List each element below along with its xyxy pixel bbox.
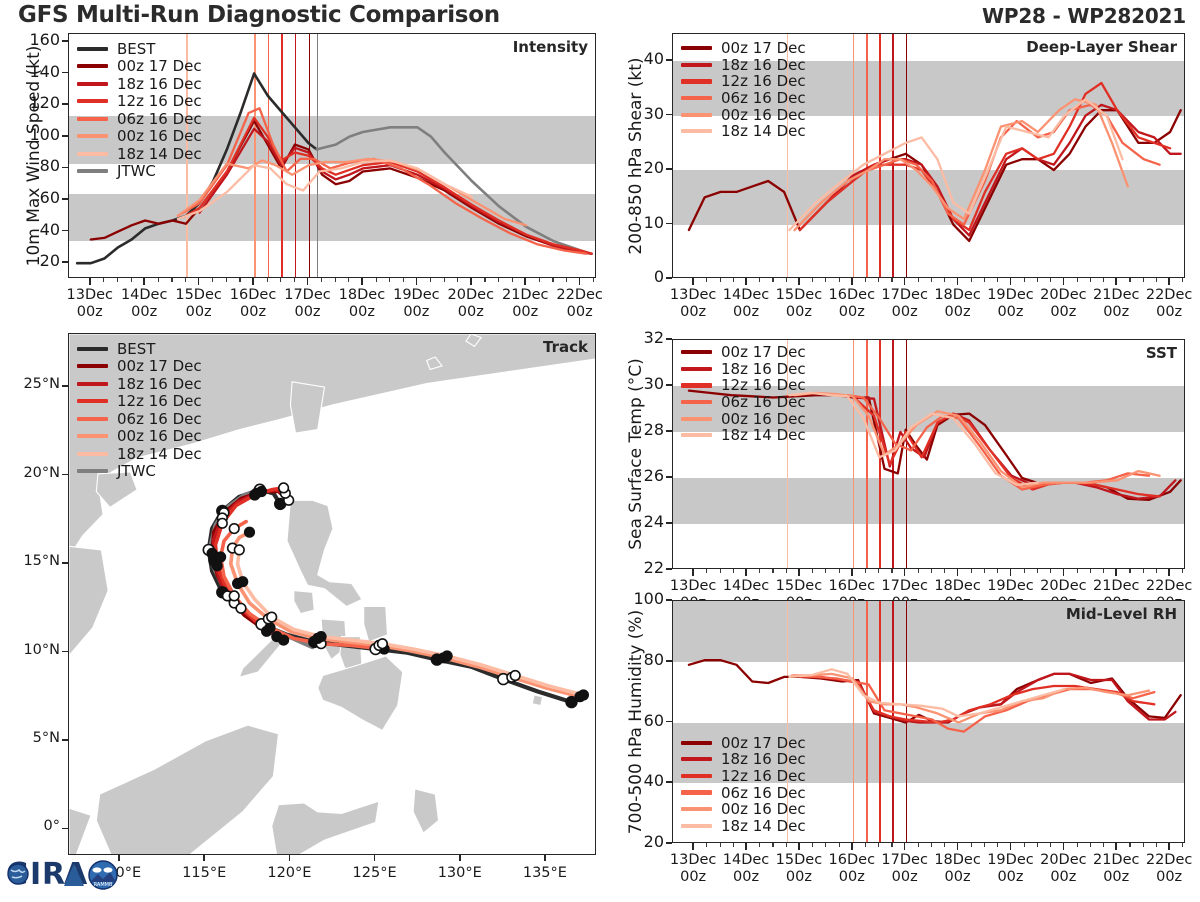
x-minor-tickmark: [1024, 569, 1025, 573]
y-axis-title-sst: Sea Surface Temp (°C): [626, 358, 646, 550]
legend-swatch-00z-17-dec: [681, 350, 712, 354]
x-tickmark: [692, 569, 694, 576]
page-title: GFS Multi-Run Diagnostic Comparison: [18, 2, 500, 28]
x-minor-tickmark: [812, 843, 813, 847]
legend-swatch-18z-16-dec: [681, 757, 712, 761]
legend-label: 00z 17 Dec: [721, 39, 806, 57]
y-tickmark: [666, 114, 672, 116]
landmass-1: [68, 546, 108, 659]
legend-swatch-00z-17-dec: [77, 64, 108, 68]
x-minor-tickmark: [944, 278, 945, 282]
x-tick-label-day: 22Dec: [542, 287, 618, 303]
y-axis-title-intensity: 10m Max Wind Speed (kt): [24, 45, 44, 266]
x-minor-tickmark: [1129, 569, 1130, 573]
legend-swatch-18z-14-dec: [77, 152, 108, 156]
track-marker-12z: [235, 545, 245, 555]
x-tickmark: [1010, 278, 1012, 285]
x-minor-tickmark: [1050, 843, 1051, 847]
x-minor-tickmark: [484, 278, 485, 282]
x-minor-tickmark: [772, 569, 773, 573]
legend-label: 12z 16 Dec: [117, 92, 202, 110]
track-line-00z-16-dec: [231, 532, 580, 697]
x-tickmark: [1168, 569, 1170, 576]
x-minor-tickmark: [733, 569, 734, 573]
map-lon-label: 120°E: [249, 865, 329, 881]
track-marker-00z: [579, 690, 589, 700]
legend-item: 00z 17 Dec: [681, 344, 806, 361]
legend-label: 00z 16 Dec: [117, 127, 202, 145]
x-tickmark: [957, 569, 959, 576]
x-minor-tickmark: [997, 569, 998, 573]
map-lat-tickmark: [62, 474, 68, 476]
legend-item: 00z 17 Dec: [681, 40, 806, 57]
landmass-5: [294, 591, 315, 614]
legend-label: 06z 16 Dec: [117, 410, 202, 428]
x-minor-tickmark: [1037, 278, 1038, 282]
x-tickmark: [851, 278, 853, 285]
legend-swatch-18z-16-dec: [77, 82, 108, 86]
x-tick-label-day: 22Dec: [1131, 852, 1200, 868]
y-tick-label: 22: [614, 558, 664, 577]
x-minor-tickmark: [1156, 843, 1157, 847]
legend-swatch-jtwc: [77, 469, 108, 473]
x-tickmark: [1168, 843, 1170, 850]
track-marker-12z: [218, 519, 228, 529]
legend-rh: 00z 17 Dec18z 16 Dec12z 16 Dec06z 16 Dec…: [681, 734, 806, 834]
legend-item: 18z 14 Dec: [77, 445, 202, 463]
legend-item: 18z 16 Dec: [681, 751, 806, 768]
x-minor-tickmark: [812, 278, 813, 282]
legend-swatch-06z-16-dec: [681, 96, 712, 100]
series-line-18z-16-dec: [200, 129, 592, 254]
legend-item: 06z 16 Dec: [681, 90, 806, 107]
legend-item: 06z 16 Dec: [77, 110, 202, 128]
y-tickmark: [666, 168, 672, 170]
panel-track: TrackBEST00z 17 Dec18z 16 Dec12z 16 Dec0…: [68, 333, 596, 855]
x-minor-tickmark: [1103, 278, 1104, 282]
legend-label: JTWC: [117, 162, 156, 180]
y-tickmark: [666, 721, 672, 723]
x-tick-label-hour: 00z: [542, 304, 618, 320]
x-tickmark: [904, 843, 906, 850]
series-line-06z-16-dec: [795, 675, 1155, 731]
x-minor-tickmark: [1090, 569, 1091, 573]
x-minor-tickmark: [226, 278, 227, 282]
x-tickmark: [1115, 569, 1117, 576]
legend-label: 18z 14 Dec: [721, 122, 806, 140]
legend-item: 12z 16 Dec: [681, 377, 806, 394]
panel-title-track: Track: [543, 338, 588, 356]
legend-label: 00z 17 Dec: [721, 734, 806, 752]
track-marker-12z: [279, 483, 289, 493]
x-minor-tickmark: [593, 278, 594, 282]
track-marker-12z: [378, 639, 388, 649]
x-minor-tickmark: [103, 278, 104, 282]
x-tick-label-day: 22Dec: [1131, 287, 1200, 303]
x-tickmark: [692, 278, 694, 285]
x-minor-tickmark: [918, 278, 919, 282]
panel-title-intensity: Intensity: [513, 38, 588, 56]
x-minor-tickmark: [267, 278, 268, 282]
x-minor-tickmark: [918, 569, 919, 573]
landmass-12: [272, 801, 379, 855]
x-minor-tickmark: [1156, 569, 1157, 573]
x-minor-tickmark: [759, 843, 760, 847]
map-lat-label: 25°N: [6, 376, 60, 392]
legend-item: BEST: [77, 40, 202, 58]
legend-swatch-best: [77, 347, 108, 351]
legend-item: 00z 17 Dec: [77, 58, 202, 76]
legend-item: 18z 16 Dec: [77, 375, 202, 393]
x-minor-tickmark: [348, 278, 349, 282]
legend-swatch-18z-16-dec: [681, 63, 712, 67]
legend-label: 00z 17 Dec: [117, 57, 202, 75]
x-minor-tickmark: [984, 278, 985, 282]
x-minor-tickmark: [1050, 569, 1051, 573]
track-line-18z-14-dec: [238, 550, 584, 695]
landmass-11: [96, 725, 278, 855]
legend-shear: 00z 17 Dec18z 16 Dec12z 16 Dec06z 16 Dec…: [681, 40, 806, 140]
legend-label: 18z 14 Dec: [721, 426, 806, 444]
map-lon-tickmark: [289, 855, 291, 861]
map-lon-tickmark: [459, 855, 461, 861]
x-minor-tickmark: [733, 843, 734, 847]
legend-item: 06z 16 Dec: [681, 394, 806, 411]
x-minor-tickmark: [1182, 569, 1183, 573]
y-tickmark: [666, 660, 672, 662]
y-tick-label: 0: [614, 267, 664, 286]
x-minor-tickmark: [931, 278, 932, 282]
panel-title-sst: SST: [1146, 344, 1177, 362]
y-tickmark: [666, 476, 672, 478]
legend-swatch-00z-17-dec: [77, 364, 108, 368]
x-tickmark: [1115, 843, 1117, 850]
x-minor-tickmark: [878, 569, 879, 573]
x-minor-tickmark: [944, 569, 945, 573]
x-minor-tickmark: [1129, 278, 1130, 282]
legend-label: 00z 16 Dec: [721, 800, 806, 818]
x-minor-tickmark: [971, 843, 972, 847]
legend-item: 00z 16 Dec: [77, 128, 202, 146]
legend-label: 18z 14 Dec: [117, 445, 202, 463]
track-marker-00z: [265, 623, 275, 633]
track-marker-00z: [250, 490, 260, 500]
x-minor-tickmark: [1143, 843, 1144, 847]
track-marker-00z: [238, 577, 248, 587]
map-lon-tickmark: [374, 855, 376, 861]
legend-item: 00z 17 Dec: [77, 358, 202, 376]
x-tickmark: [416, 278, 418, 285]
x-minor-tickmark: [984, 843, 985, 847]
legend-swatch-18z-14-dec: [681, 824, 712, 828]
y-tickmark: [666, 223, 672, 225]
x-tickmark: [89, 278, 91, 285]
legend-swatch-00z-16-dec: [681, 113, 712, 117]
x-minor-tickmark: [239, 278, 240, 282]
legend-item: 18z 16 Dec: [681, 361, 806, 378]
legend-label: 12z 16 Dec: [721, 376, 806, 394]
x-minor-tickmark: [720, 278, 721, 282]
y-tickmark: [62, 198, 68, 200]
legend-sst: 00z 17 Dec18z 16 Dec12z 16 Dec06z 16 Dec…: [681, 344, 806, 444]
y-tickmark: [666, 599, 672, 601]
legend-item: 12z 16 Dec: [77, 393, 202, 411]
map-lat-label: 0°: [6, 818, 60, 834]
legend-swatch-00z-16-dec: [77, 434, 108, 438]
x-tickmark: [692, 843, 694, 850]
x-minor-tickmark: [878, 843, 879, 847]
legend-swatch-12z-16-dec: [681, 774, 712, 778]
x-tickmark: [798, 843, 800, 850]
x-tickmark: [1063, 569, 1065, 576]
legend-label: 18z 16 Dec: [721, 56, 806, 74]
legend-swatch-12z-16-dec: [681, 383, 712, 387]
landmass-3: [290, 382, 324, 433]
legend-item: 18z 16 Dec: [681, 57, 806, 74]
map-lat-label: 15°N: [6, 553, 60, 569]
x-tick-label-hour: 00z: [1131, 869, 1200, 885]
y-tickmark: [666, 568, 672, 570]
x-minor-tickmark: [839, 278, 840, 282]
x-minor-tickmark: [1024, 843, 1025, 847]
legend-swatch-00z-17-dec: [681, 46, 712, 50]
x-tick-label-day: 22Dec: [1131, 578, 1200, 594]
track-marker-00z: [316, 632, 326, 642]
legend-label: 12z 16 Dec: [721, 72, 806, 90]
x-minor-tickmark: [891, 278, 892, 282]
map-lon-tickmark: [203, 855, 205, 861]
x-minor-tickmark: [786, 843, 787, 847]
x-minor-tickmark: [1050, 278, 1051, 282]
cira-logo: CI RA RAMMB: [4, 848, 130, 898]
x-minor-tickmark: [457, 278, 458, 282]
legend-item: 18z 14 Dec: [681, 123, 806, 140]
legend-item: 06z 16 Dec: [77, 410, 202, 428]
x-minor-tickmark: [1143, 278, 1144, 282]
x-minor-tickmark: [825, 843, 826, 847]
x-minor-tickmark: [1103, 843, 1104, 847]
track-marker-12z: [236, 604, 246, 614]
legend-item: 00z 16 Dec: [681, 801, 806, 818]
x-tickmark: [361, 278, 363, 285]
svg-text:R: R: [42, 857, 65, 892]
legend-item: 00z 16 Dec: [77, 428, 202, 446]
x-minor-tickmark: [539, 278, 540, 282]
legend-label: 18z 16 Dec: [721, 360, 806, 378]
x-tickmark: [1010, 569, 1012, 576]
x-minor-tickmark: [786, 569, 787, 573]
x-minor-tickmark: [321, 278, 322, 282]
x-minor-tickmark: [552, 278, 553, 282]
track-marker-12z: [267, 612, 277, 622]
legend-swatch-18z-14-dec: [681, 129, 712, 133]
map-lat-tickmark: [62, 739, 68, 741]
x-minor-tickmark: [1090, 278, 1091, 282]
x-minor-tickmark: [158, 278, 159, 282]
legend-label: 18z 14 Dec: [721, 817, 806, 835]
x-tickmark: [579, 278, 581, 285]
legend-label: 18z 16 Dec: [117, 375, 202, 393]
x-minor-tickmark: [825, 278, 826, 282]
y-axis-title-rh: 700-500 hPa Humidity (%): [626, 609, 646, 833]
y-tickmark: [62, 103, 68, 105]
x-minor-tickmark: [865, 569, 866, 573]
x-tickmark: [252, 278, 254, 285]
x-minor-tickmark: [733, 278, 734, 282]
legend-item: 12z 16 Dec: [77, 93, 202, 111]
y-tickmark: [666, 842, 672, 844]
y-tickmark: [666, 430, 672, 432]
x-minor-tickmark: [294, 278, 295, 282]
x-minor-tickmark: [444, 278, 445, 282]
x-minor-tickmark: [944, 843, 945, 847]
x-tickmark: [524, 278, 526, 285]
y-tickmark: [62, 261, 68, 263]
x-minor-tickmark: [512, 278, 513, 282]
x-minor-tickmark: [185, 278, 186, 282]
series-line-00z-16-dec: [795, 99, 1128, 230]
map-lat-tickmark: [62, 385, 68, 387]
series-line-00z-16-dec: [795, 393, 1160, 487]
x-minor-tickmark: [1156, 278, 1157, 282]
map-lon-label: 135°E: [505, 865, 585, 881]
x-minor-tickmark: [839, 569, 840, 573]
y-tickmark: [666, 277, 672, 279]
x-minor-tickmark: [376, 278, 377, 282]
panel-title-shear: Deep-Layer Shear: [1026, 38, 1177, 56]
legend-swatch-06z-16-dec: [681, 400, 712, 404]
x-tickmark: [798, 278, 800, 285]
x-tickmark: [1063, 843, 1065, 850]
legend-label: 18z 16 Dec: [117, 75, 202, 93]
x-minor-tickmark: [971, 569, 972, 573]
x-minor-tickmark: [759, 278, 760, 282]
legend-label: 06z 16 Dec: [721, 784, 806, 802]
x-minor-tickmark: [878, 278, 879, 282]
x-minor-tickmark: [984, 569, 985, 573]
x-minor-tickmark: [1077, 843, 1078, 847]
x-minor-tickmark: [280, 278, 281, 282]
x-minor-tickmark: [498, 278, 499, 282]
legend-label: 12z 16 Dec: [117, 392, 202, 410]
legend-label: 00z 16 Dec: [721, 410, 806, 428]
x-minor-tickmark: [403, 278, 404, 282]
panel-title-rh: Mid-Level RH: [1066, 605, 1177, 623]
legend-label: 06z 16 Dec: [117, 110, 202, 128]
track-marker-00z: [245, 527, 255, 537]
legend-label: 18z 16 Dec: [721, 750, 806, 768]
x-tickmark: [307, 278, 309, 285]
panel-sst: SST00z 17 Dec18z 16 Dec12z 16 Dec06z 16 …: [672, 339, 1185, 569]
x-minor-tickmark: [772, 278, 773, 282]
x-tickmark: [745, 569, 747, 576]
legend-item: 12z 16 Dec: [681, 73, 806, 90]
x-minor-tickmark: [931, 569, 932, 573]
landmass-10: [318, 656, 403, 730]
legend-intensity: BEST00z 17 Dec18z 16 Dec12z 16 Dec06z 16…: [77, 40, 202, 180]
legend-item: 00z 17 Dec: [681, 734, 806, 751]
x-minor-tickmark: [1037, 569, 1038, 573]
x-minor-tickmark: [931, 843, 932, 847]
x-tickmark: [1010, 843, 1012, 850]
map-lat-tickmark: [62, 562, 68, 564]
legend-swatch-00z-16-dec: [681, 807, 712, 811]
x-minor-tickmark: [706, 278, 707, 282]
track-marker-12z: [510, 671, 520, 681]
x-tickmark: [851, 843, 853, 850]
x-tickmark: [904, 278, 906, 285]
legend-item: BEST: [77, 340, 202, 358]
x-minor-tickmark: [759, 569, 760, 573]
legend-label: 18z 14 Dec: [117, 145, 202, 163]
legend-label: BEST: [117, 40, 155, 58]
x-minor-tickmark: [117, 278, 118, 282]
y-tick-label: 20: [614, 832, 664, 851]
x-minor-tickmark: [891, 843, 892, 847]
legend-swatch-06z-16-dec: [77, 117, 108, 121]
x-minor-tickmark: [1143, 569, 1144, 573]
legend-swatch-best: [77, 47, 108, 51]
x-minor-tickmark: [812, 569, 813, 573]
track-marker-12z: [229, 524, 239, 534]
y-tick-label: 32: [614, 328, 664, 347]
panel-shear: Deep-Layer Shear00z 17 Dec18z 16 Dec12z …: [672, 33, 1185, 278]
legend-item: 18z 14 Dec: [77, 145, 202, 163]
x-minor-tickmark: [1129, 843, 1130, 847]
legend-swatch-jtwc: [77, 169, 108, 173]
x-minor-tickmark: [997, 843, 998, 847]
map-lat-tickmark: [62, 651, 68, 653]
x-minor-tickmark: [1103, 569, 1104, 573]
x-tick-label-hour: 00z: [1131, 304, 1200, 320]
legend-swatch-18z-16-dec: [77, 382, 108, 386]
map-lat-label: 5°N: [6, 730, 60, 746]
x-minor-tickmark: [865, 843, 866, 847]
legend-swatch-12z-16-dec: [77, 399, 108, 403]
panel-rh: Mid-Level RH00z 17 Dec18z 16 Dec12z 16 D…: [672, 600, 1185, 843]
x-tickmark: [957, 843, 959, 850]
x-tickmark: [798, 569, 800, 576]
x-minor-tickmark: [720, 569, 721, 573]
legend-swatch-00z-16-dec: [681, 417, 712, 421]
legend-label: 06z 16 Dec: [721, 393, 806, 411]
x-tickmark: [1063, 278, 1065, 285]
legend-item: JTWC: [77, 163, 202, 181]
svg-text:I: I: [30, 857, 41, 892]
y-tickmark: [62, 167, 68, 169]
track-marker-00z: [442, 651, 452, 661]
y-tickmark: [666, 522, 672, 524]
x-minor-tickmark: [1182, 278, 1183, 282]
legend-label: 00z 17 Dec: [721, 343, 806, 361]
legend-label: 00z 16 Dec: [117, 427, 202, 445]
y-axis-title-shear: 200-850 hPa Shear (kt): [626, 57, 646, 254]
legend-item: 12z 16 Dec: [681, 768, 806, 785]
y-tick-label: 100: [614, 589, 664, 608]
map-lon-label: 115°E: [164, 865, 244, 881]
legend-swatch-06z-16-dec: [77, 417, 108, 421]
legend-swatch-12z-16-dec: [681, 79, 712, 83]
x-minor-tickmark: [1037, 843, 1038, 847]
map-lat-label: 20°N: [6, 465, 60, 481]
legend-label: 00z 17 Dec: [117, 357, 202, 375]
x-minor-tickmark: [865, 278, 866, 282]
x-minor-tickmark: [971, 278, 972, 282]
x-tickmark: [745, 278, 747, 285]
x-minor-tickmark: [891, 569, 892, 573]
y-tickmark: [666, 384, 672, 386]
x-minor-tickmark: [1090, 843, 1091, 847]
